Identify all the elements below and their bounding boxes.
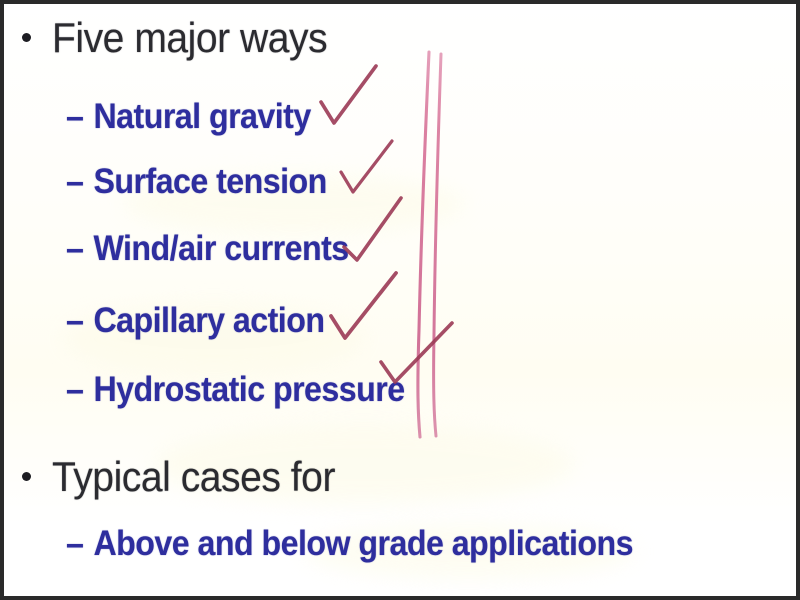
dash-glyph-icon: – bbox=[66, 526, 83, 561]
list-item-surface-tension: –Surface tension bbox=[66, 164, 327, 199]
list-item-capillary-action: –Capillary action bbox=[66, 303, 324, 338]
list-item-label: Above and below grade applications bbox=[93, 524, 632, 563]
bullet-dot-five-major-ways bbox=[22, 33, 31, 42]
dash-glyph-icon: – bbox=[66, 303, 83, 338]
list-item-hydrostatic-pressure: –Hydrostatic pressure bbox=[66, 372, 405, 407]
slide-scan: Five major ways –Natural gravity –Surfac… bbox=[0, 0, 800, 600]
list-item-label: Wind/air currents bbox=[93, 229, 348, 268]
dash-glyph-icon: – bbox=[66, 231, 83, 266]
heading-five-major-ways: Five major ways bbox=[52, 17, 327, 59]
dash-glyph-icon: – bbox=[66, 99, 83, 134]
dash-glyph-icon: – bbox=[66, 372, 83, 407]
list-item-label: Capillary action bbox=[93, 301, 324, 340]
list-item-label: Surface tension bbox=[93, 162, 326, 201]
slide-content: Five major ways –Natural gravity –Surfac… bbox=[0, 0, 792, 592]
bullet-dot-typical-cases-for bbox=[22, 472, 31, 481]
list-item-wind-air-currents: –Wind/air currents bbox=[66, 231, 349, 266]
dash-glyph-icon: – bbox=[66, 164, 83, 199]
list-item-natural-gravity: –Natural gravity bbox=[66, 99, 311, 134]
heading-typical-cases-for: Typical cases for bbox=[52, 456, 335, 498]
list-item-label: Natural gravity bbox=[93, 97, 310, 136]
list-item-label: Hydrostatic pressure bbox=[93, 370, 404, 409]
list-item-above-and-below-grade-applications: –Above and below grade applications bbox=[66, 526, 633, 561]
